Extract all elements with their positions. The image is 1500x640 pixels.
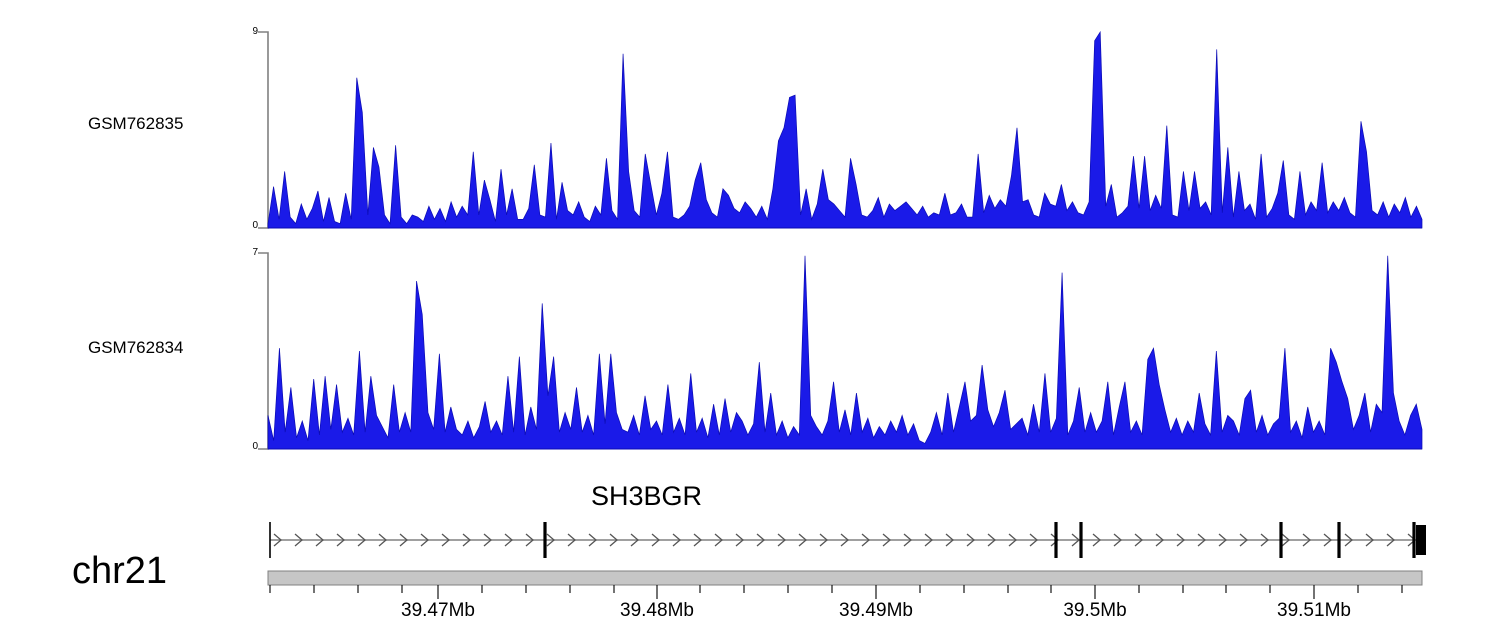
gene-annotation-track[interactable] [269, 522, 1426, 558]
terminal-exon-block[interactable] [1416, 525, 1426, 555]
track-0-axis [258, 32, 268, 228]
ruler-tick-label: 39.48Mb [620, 600, 694, 622]
browser-canvas [0, 0, 1500, 640]
genomic-ruler[interactable] [268, 571, 1422, 599]
exon-marker[interactable] [269, 522, 271, 558]
ruler-tick-label: 39.5Mb [1063, 600, 1126, 622]
exon-marker[interactable] [1337, 522, 1340, 558]
coverage-profile-GSM762835[interactable] [268, 32, 1422, 228]
exon-marker[interactable] [1279, 522, 1282, 558]
ruler-bar[interactable] [268, 571, 1422, 585]
exon-marker[interactable] [1412, 522, 1415, 558]
ruler-tick-label: 39.49Mb [839, 600, 913, 622]
exon-marker[interactable] [1054, 522, 1057, 558]
coverage-profile-GSM762834[interactable] [268, 256, 1422, 449]
ruler-tick-label: 39.47Mb [401, 600, 475, 622]
exon-marker[interactable] [543, 522, 546, 558]
exon-marker[interactable] [1079, 522, 1082, 558]
genome-browser: GSM762835 GSM762834 chr21 9 0 7 0 SH3BGR… [0, 0, 1500, 640]
y-axis-group [258, 32, 268, 449]
coverage-tracks-group[interactable] [268, 32, 1422, 449]
track-1-axis [258, 253, 268, 449]
ruler-tick-label: 39.51Mb [1277, 600, 1351, 622]
